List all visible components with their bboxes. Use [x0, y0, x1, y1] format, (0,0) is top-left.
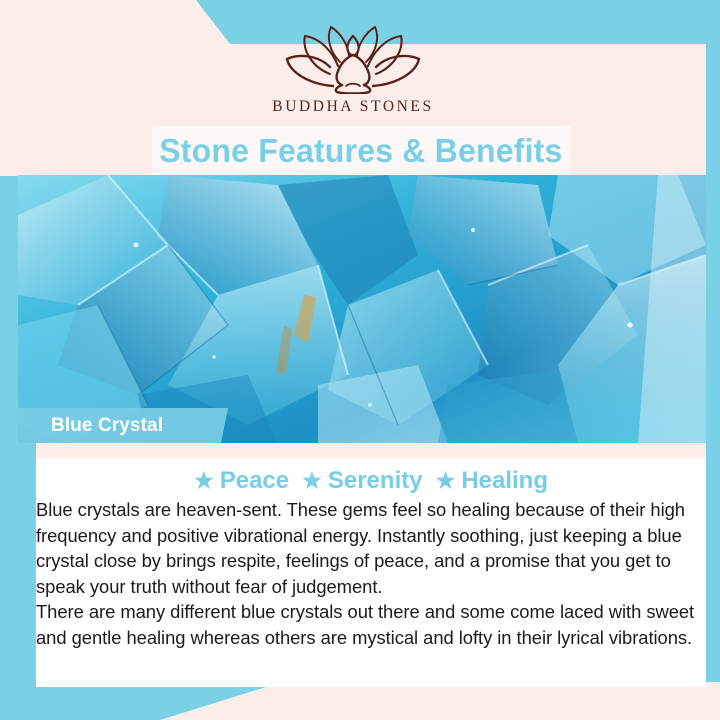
- panel-top-tint: [36, 443, 706, 458]
- page-title-band: Stone Features & Benefits: [152, 126, 570, 175]
- keyword-serenity: ★ Serenity: [302, 467, 422, 495]
- keyword-serenity-label: Serenity: [328, 467, 423, 495]
- star-icon: ★: [436, 470, 456, 492]
- blue-crystal-cluster-graphic: [18, 175, 706, 443]
- body-paragraph-2: There are many different blue crystals o…: [36, 599, 706, 650]
- body-paragraph-1: Blue crystals are heaven-sent. These gem…: [36, 497, 706, 599]
- body-copy: Blue crystals are heaven-sent. These gem…: [36, 497, 708, 650]
- keyword-peace: ★ Peace: [194, 467, 289, 495]
- page-title: Stone Features & Benefits: [159, 132, 562, 170]
- keyword-healing-label: Healing: [461, 467, 548, 495]
- stone-name-label: Blue Crystal: [18, 415, 163, 437]
- star-icon: ★: [302, 470, 322, 492]
- keyword-healing: ★ Healing: [436, 467, 548, 495]
- star-icon: ★: [194, 470, 214, 492]
- infographic-page: BUDDHA STONES Stone Features & Benefits: [0, 0, 720, 720]
- keyword-peace-label: Peace: [220, 467, 289, 495]
- keyword-row: ★ Peace ★ Serenity ★ Healing: [36, 467, 706, 495]
- lotus-meditation-logo-icon: [278, 22, 428, 94]
- brand-logo: BUDDHA STONES: [0, 22, 706, 116]
- content-panel: ★ Peace ★ Serenity ★ Healing Blue crysta…: [36, 443, 706, 687]
- brand-wordmark: BUDDHA STONES: [272, 98, 433, 116]
- stone-name-banner: Blue Crystal: [18, 408, 228, 443]
- hero-image: [18, 175, 706, 443]
